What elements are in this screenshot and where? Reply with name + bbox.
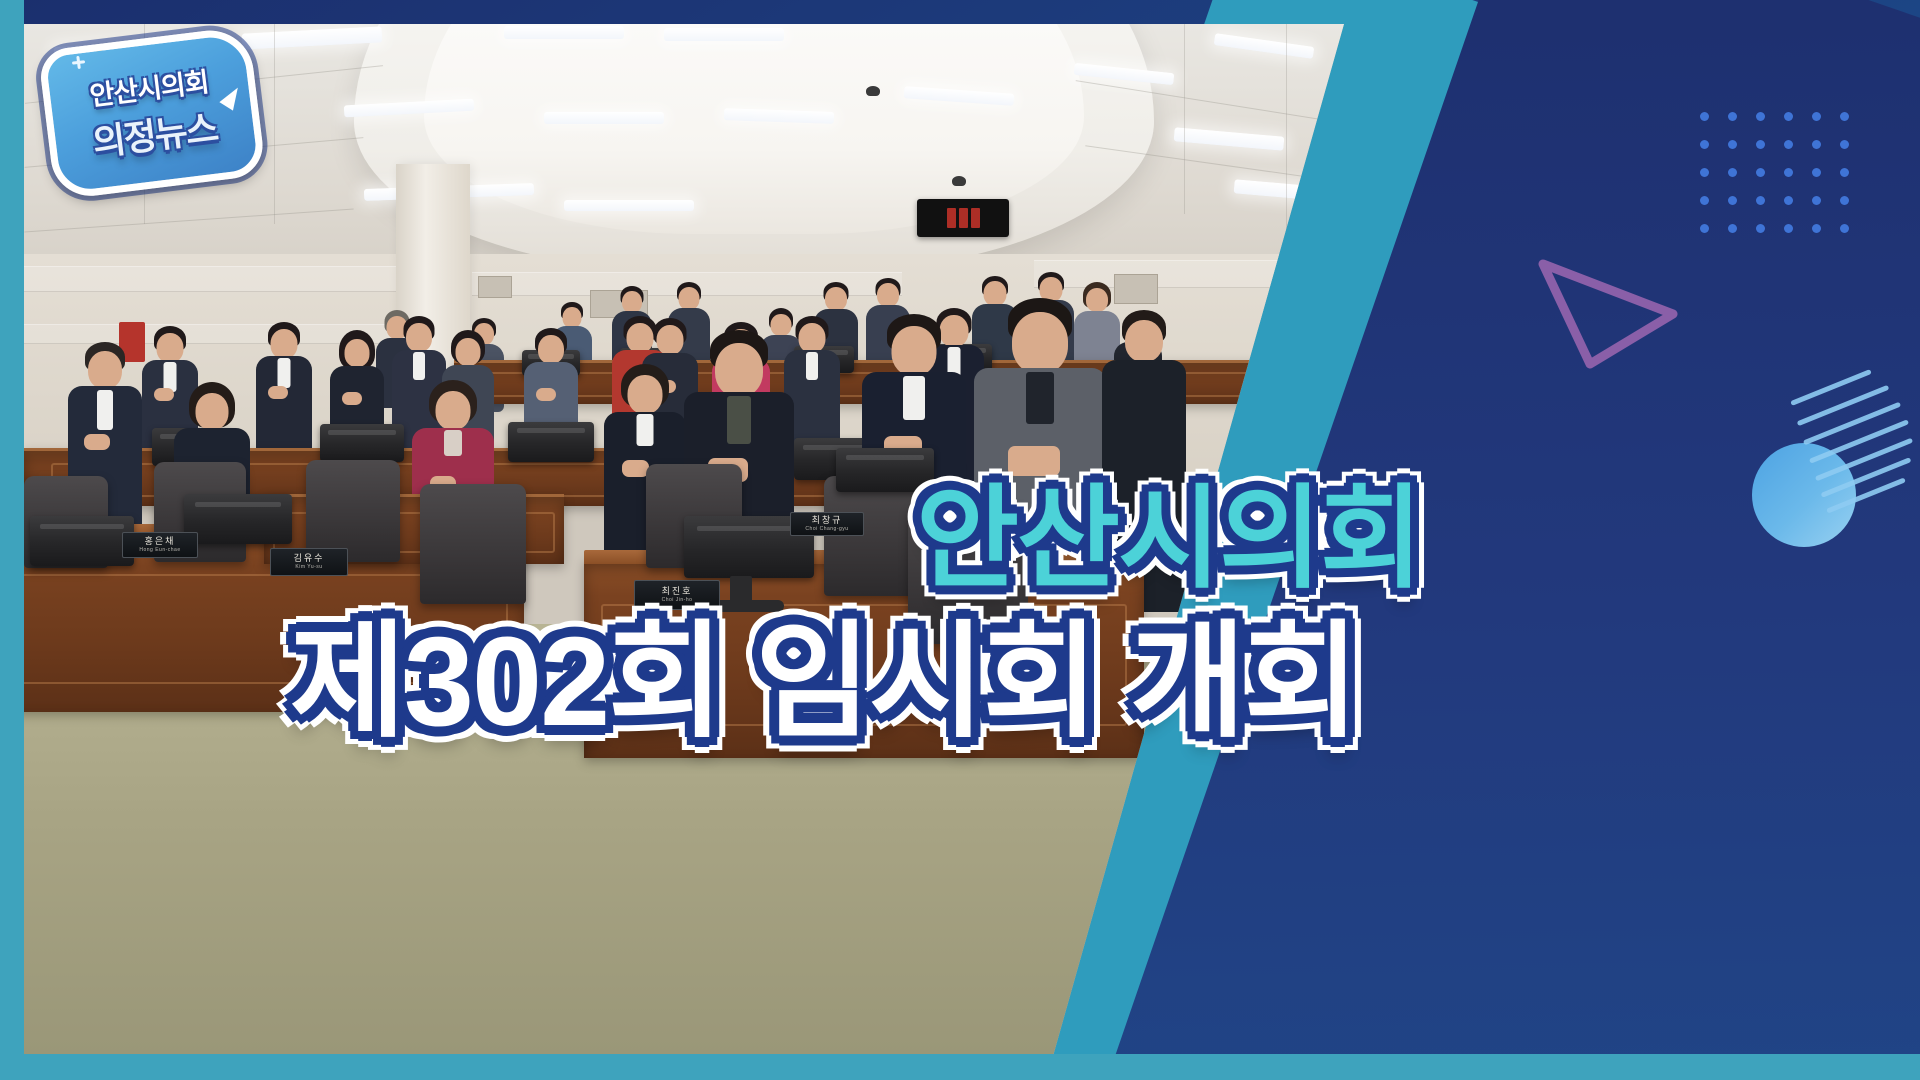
- dot: [1812, 140, 1821, 149]
- dot: [1700, 224, 1709, 233]
- frame-edge-bottom: [0, 1054, 1920, 1080]
- dot: [1812, 112, 1821, 121]
- dot: [1784, 140, 1793, 149]
- nameplate-name-en: Choi Chang-gyu: [805, 527, 848, 532]
- nameplate-name-en: Hong Eun-chae: [139, 548, 180, 553]
- dot: [1840, 112, 1849, 121]
- nameplate-name-en: Kim Yu-su: [295, 565, 322, 570]
- dot: [1784, 168, 1793, 177]
- broadcast-graphic-stage: 홍은채 Hong Eun-chae 김유수 Kim Yu-su 최진호 Choi…: [0, 0, 1920, 1080]
- chamber-chair: [306, 460, 400, 562]
- dot: [1812, 196, 1821, 205]
- dot: [1728, 112, 1737, 121]
- nameplate: 홍은채 Hong Eun-chae: [122, 532, 198, 558]
- headline-block: 안산시의회 제302회 임시회 개회: [880, 482, 1580, 747]
- cctv-camera-icon: [866, 86, 880, 96]
- nameplate-name-kr: 최진호: [662, 587, 693, 596]
- dot: [1812, 168, 1821, 177]
- dot: [1700, 196, 1709, 205]
- desk-monitor: [508, 422, 594, 462]
- headline-line-1: 안산시의회: [916, 482, 1421, 596]
- dot: [1756, 112, 1765, 121]
- nameplate: 김유수 Kim Yu-su: [270, 548, 348, 576]
- nameplate-name-en: Choi Jin-ho: [662, 598, 693, 603]
- sunburst-circle-decoration: [1660, 355, 1920, 555]
- desk-monitor: [320, 424, 404, 462]
- desk-monitor: [184, 494, 292, 544]
- cctv-camera-icon: [952, 176, 966, 186]
- sunburst-circle: [1752, 443, 1856, 547]
- dot: [1840, 224, 1849, 233]
- dot: [1728, 224, 1737, 233]
- dot: [1756, 196, 1765, 205]
- nameplate: 최창규 Choi Chang-gyu: [790, 512, 864, 536]
- dot: [1840, 168, 1849, 177]
- chamber-vote-scoreboard: [917, 199, 1009, 237]
- dot: [1756, 224, 1765, 233]
- nameplate-name-kr: 김유수: [294, 554, 325, 563]
- dot-grid-decoration: [1700, 112, 1849, 252]
- dot: [1700, 112, 1709, 121]
- dot: [1840, 196, 1849, 205]
- dot: [1756, 168, 1765, 177]
- dot: [1728, 168, 1737, 177]
- dot: [1700, 168, 1709, 177]
- headline-line-2: 제302회 임시회 개회: [290, 618, 1580, 747]
- dot: [1812, 224, 1821, 233]
- dot: [1784, 224, 1793, 233]
- frame-edge-left: [0, 0, 24, 1080]
- nameplate-name-kr: 최창규: [812, 516, 843, 525]
- desk-monitor: [30, 516, 134, 566]
- dot: [1728, 140, 1737, 149]
- dot: [1728, 196, 1737, 205]
- nameplate-name-kr: 홍은채: [145, 537, 176, 546]
- dot: [1840, 140, 1849, 149]
- nameplate: 최진호 Choi Jin-ho: [634, 580, 720, 610]
- dot: [1784, 112, 1793, 121]
- ansan-city-council-news-logo: 안산시의회 의정뉴스: [46, 38, 258, 188]
- dot: [1784, 196, 1793, 205]
- dot: [1700, 140, 1709, 149]
- dot: [1756, 140, 1765, 149]
- chamber-chair: [420, 484, 526, 604]
